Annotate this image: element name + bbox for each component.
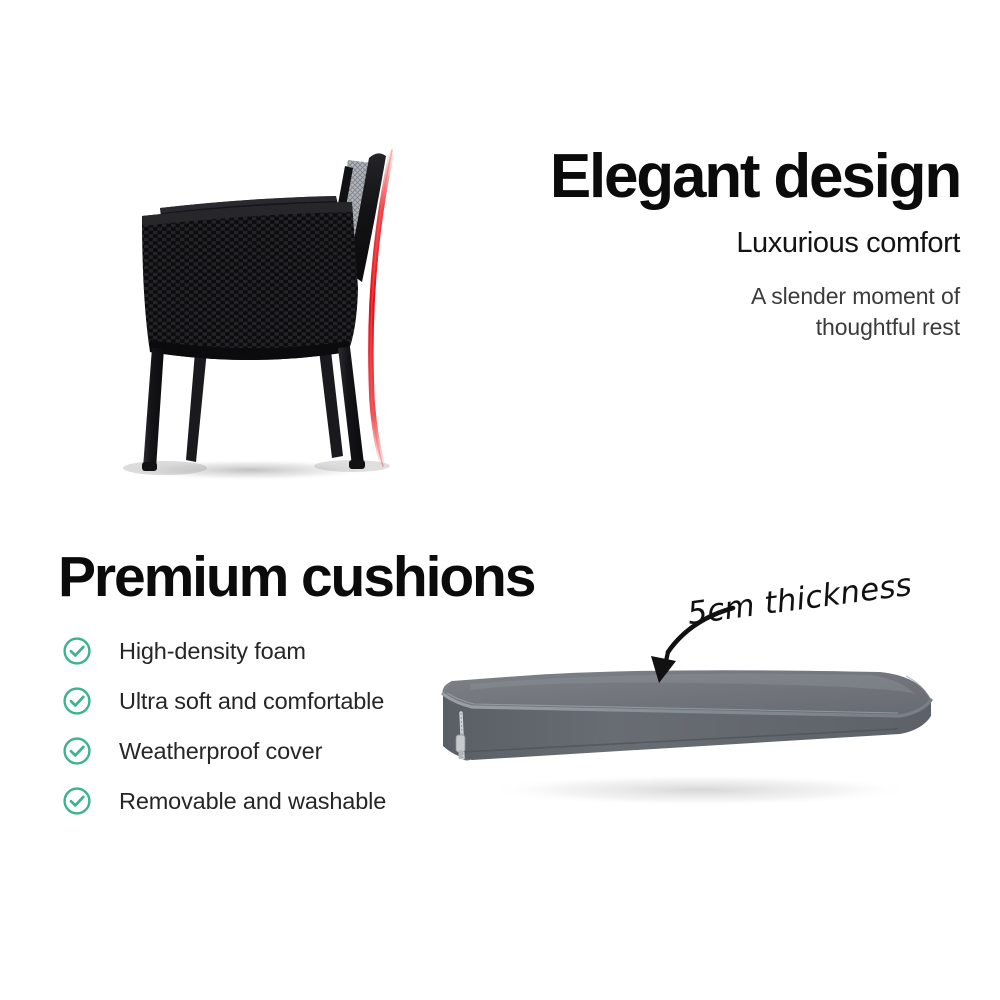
feature-label: Removable and washable (119, 788, 386, 815)
list-item: Removable and washable (62, 776, 492, 826)
list-item: Weatherproof cover (62, 726, 492, 776)
feature-label: Ultra soft and comfortable (119, 688, 384, 715)
body-line-1: A slender moment of (560, 281, 960, 312)
luxurious-comfort-subheadline: Luxurious comfort (480, 228, 960, 258)
feature-label: Weatherproof cover (119, 738, 322, 765)
check-circle-icon (62, 736, 92, 766)
feature-list: High-density foam Ultra soft and comfort… (62, 626, 492, 826)
list-item: High-density foam (62, 626, 492, 676)
product-infographic-page: Elegant design Luxurious comfort A slend… (0, 0, 1000, 1000)
check-circle-icon (62, 636, 92, 666)
elegant-design-headline: Elegant design (480, 146, 960, 208)
check-circle-icon (62, 686, 92, 716)
premium-cushions-headline: Premium cushions (58, 549, 534, 606)
body-line-2: thoughtful rest (560, 312, 960, 343)
elegant-design-body: A slender moment of thoughtful rest (560, 281, 960, 342)
feature-label: High-density foam (119, 638, 306, 665)
thickness-annotation: 5cm thickness (685, 567, 914, 632)
check-circle-icon (62, 786, 92, 816)
list-item: Ultra soft and comfortable (62, 676, 492, 726)
